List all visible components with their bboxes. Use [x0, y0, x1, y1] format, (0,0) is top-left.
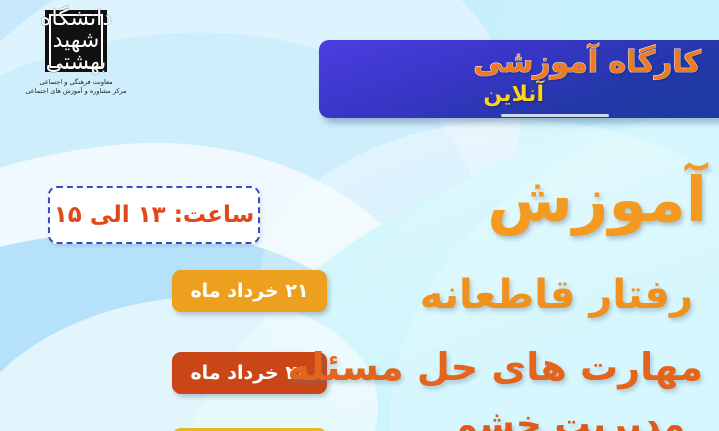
- university-seal-icon: دانشگاه شهید بهشتی: [45, 10, 107, 72]
- logo-caption-line-2: مرکز مشاوره و آموزش های اجتماعی: [16, 87, 136, 96]
- date-badge-1: ۲۱ خرداد ماه: [172, 270, 327, 312]
- university-logo: دانشگاه شهید بهشتی معاونت فرهنگی و اجتما…: [16, 10, 136, 96]
- banner-underline: [501, 114, 609, 117]
- time-badge: ساعت: ۱۳ الی ۱۵: [48, 186, 260, 244]
- poster-canvas: دانشگاه شهید بهشتی معاونت فرهنگی و اجتما…: [0, 0, 719, 431]
- logo-caption-line-1: معاونت فرهنگی و اجتماعی: [16, 78, 136, 87]
- logo-caption: معاونت فرهنگی و اجتماعی مرکز مشاوره و آم…: [16, 78, 136, 96]
- university-seal-glyph: دانشگاه شهید بهشتی: [45, 10, 107, 72]
- banner-sub-title: آنلاین: [483, 82, 544, 107]
- heading-line-1: آموزش: [487, 163, 707, 236]
- banner-title-row: کارگاه آموزشی: [473, 45, 701, 80]
- time-badge-label: ساعت: ۱۳ الی ۱۵: [54, 202, 255, 228]
- heading-line-2: رفتار قاطعانه: [420, 272, 693, 318]
- heading-line-4: مدیریت خشم: [451, 404, 685, 431]
- workshop-banner: کارگاه آموزشی آنلاین: [319, 40, 719, 118]
- heading-line-3: مهارت های حل مسئله: [287, 345, 703, 389]
- banner-main-title: کارگاه آموزشی: [473, 45, 701, 80]
